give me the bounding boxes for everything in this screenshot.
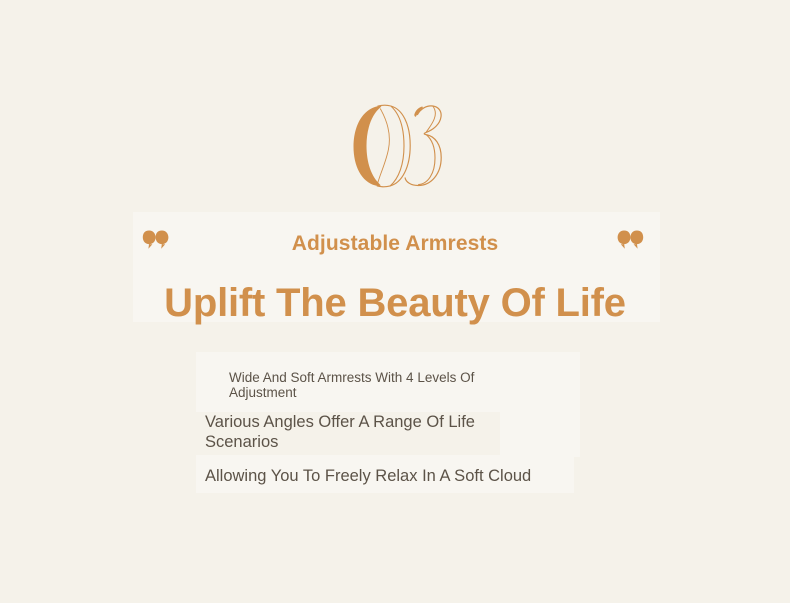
- elegant-serif-numeral-03-icon: [347, 103, 443, 189]
- section-subtitle: Adjustable Armrests: [0, 232, 790, 256]
- feature-item: Wide And Soft Armrests With 4 Levels Of …: [205, 370, 529, 400]
- feature-item: Allowing You To Freely Relax In A Soft C…: [205, 466, 625, 486]
- product-feature-banner: Adjustable Armrests Uplift The Beauty Of…: [0, 0, 790, 603]
- section-headline: Uplift The Beauty Of Life: [0, 281, 790, 326]
- section-number: [0, 103, 790, 189]
- feature-item: Various Angles Offer A Range Of Life Sce…: [205, 412, 525, 452]
- feature-list: Wide And Soft Armrests With 4 Levels Of …: [205, 370, 625, 486]
